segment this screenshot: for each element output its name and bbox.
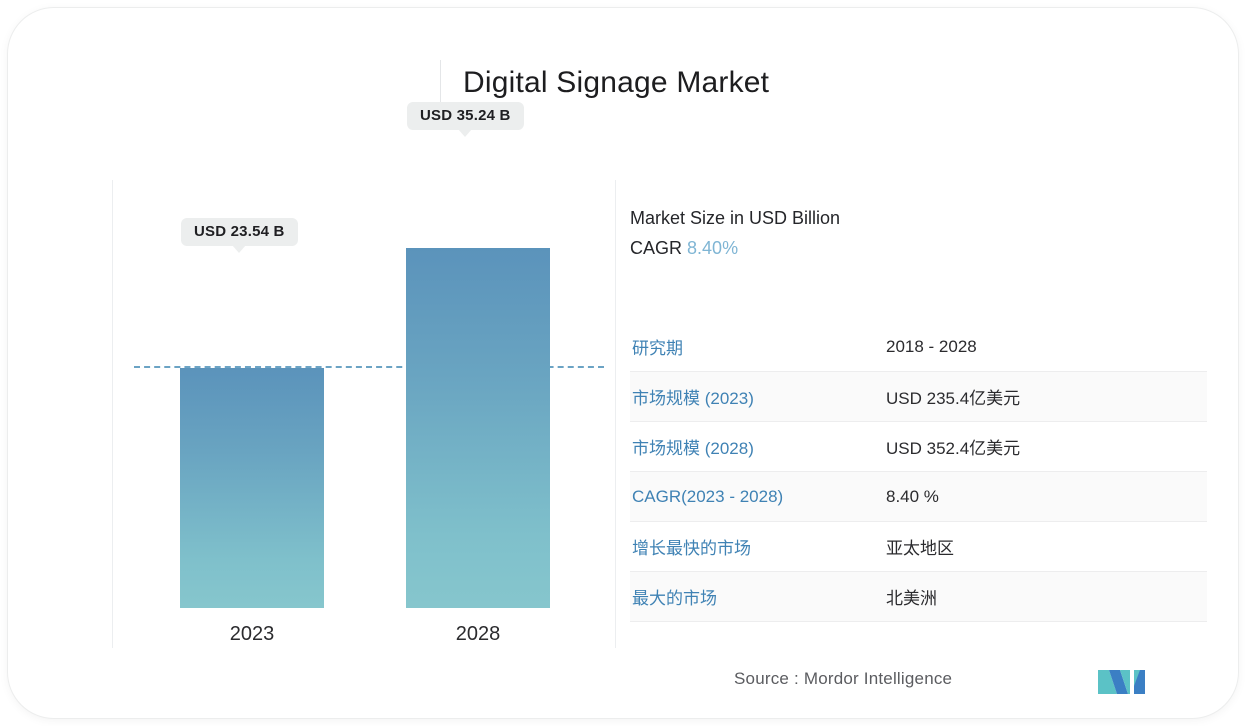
mordor-intelligence-logo	[1096, 666, 1148, 696]
table-row: 市场规模 (2023) USD 235.4亿美元	[630, 372, 1207, 422]
cagr-line: CAGR 8.40%	[630, 234, 1210, 264]
market-size-label: Market Size in USD Billion	[630, 204, 1210, 234]
row-value: USD 352.4亿美元	[884, 422, 1207, 472]
bar-value-badge-2028: USD 35.24 B	[407, 102, 524, 130]
page-title: Digital Signage Market	[463, 66, 769, 100]
row-key: CAGR(2023 - 2028)	[630, 472, 884, 522]
bar-value-badge-2023: USD 23.54 B	[181, 218, 298, 246]
row-key: 市场规模 (2028)	[630, 422, 884, 472]
source-attribution: Source : Mordor Intelligence	[734, 669, 952, 689]
row-key: 市场规模 (2023)	[630, 372, 884, 422]
row-value: 2018 - 2028	[884, 322, 1207, 372]
row-value: 亚太地区	[884, 522, 1207, 572]
panel-divider	[615, 180, 616, 648]
x-axis-label-2023: 2023	[167, 623, 337, 646]
bar-2023[interactable]	[180, 368, 324, 608]
row-key: 研究期	[630, 322, 884, 372]
table-row: CAGR(2023 - 2028) 8.40 %	[630, 472, 1207, 522]
bar-chart: USD 23.54 B USD 35.24 B 2023 2028	[112, 180, 608, 650]
infographic-card: Digital Signage Market USD 23.54 B USD 3…	[8, 8, 1238, 718]
table-row: 研究期 2018 - 2028	[630, 322, 1207, 372]
row-value: USD 235.4亿美元	[884, 372, 1207, 422]
spec-table: 研究期 2018 - 2028 市场规模 (2023) USD 235.4亿美元…	[630, 322, 1207, 622]
x-axis-label-2028: 2028	[393, 623, 563, 646]
spec-table-body: 研究期 2018 - 2028 市场规模 (2023) USD 235.4亿美元…	[630, 322, 1207, 622]
cagr-label: CAGR	[630, 238, 682, 258]
cagr-value: 8.40%	[687, 238, 738, 258]
table-row: 增长最快的市场 亚太地区	[630, 522, 1207, 572]
bar-2028[interactable]	[406, 248, 550, 608]
row-key: 最大的市场	[630, 572, 884, 622]
info-panel: Market Size in USD Billion CAGR 8.40%	[630, 204, 1210, 263]
row-value: 8.40 %	[884, 472, 1207, 522]
table-row: 市场规模 (2028) USD 352.4亿美元	[630, 422, 1207, 472]
row-value: 北美洲	[884, 572, 1207, 622]
table-row: 最大的市场 北美洲	[630, 572, 1207, 622]
row-key: 增长最快的市场	[630, 522, 884, 572]
